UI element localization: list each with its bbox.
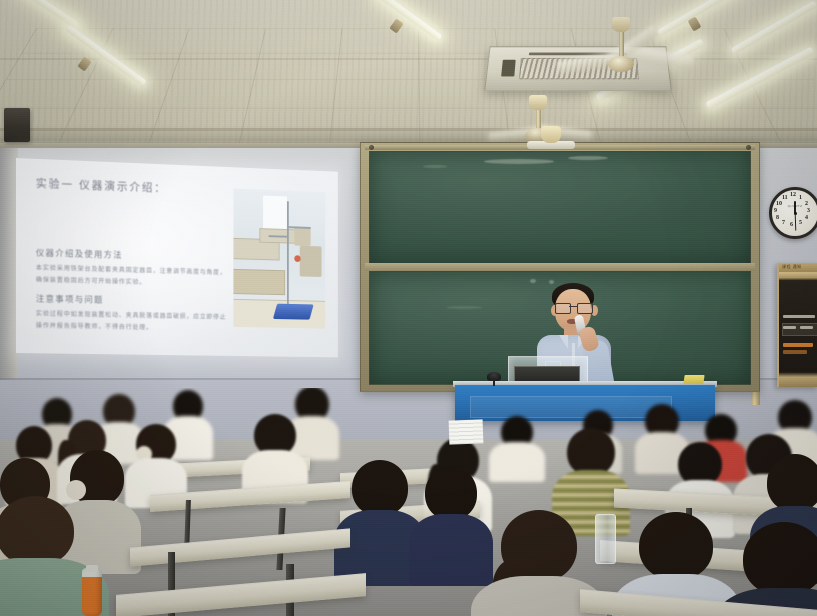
student-head <box>743 522 817 596</box>
ring-stand-rod <box>287 202 289 309</box>
student-head <box>425 466 477 520</box>
clock-numeral-9: 9 <box>774 208 777 214</box>
ring-stand-base <box>273 304 314 320</box>
papers-on-desk <box>449 419 484 444</box>
eyeglass-lens <box>555 303 571 314</box>
student <box>495 416 539 472</box>
eyeglass-bridge <box>569 306 577 307</box>
chalk-smudge <box>423 165 447 168</box>
fan-canopy <box>529 95 547 110</box>
ceiling <box>0 0 817 152</box>
fan-motor <box>608 56 634 72</box>
student <box>418 466 484 578</box>
student-head <box>0 496 74 566</box>
student-head <box>567 428 615 476</box>
clock-numeral-3: 3 <box>807 208 810 214</box>
wall-clock: QUARTZ 12 1 2 3 4 5 6 7 8 9 10 11 <box>769 187 817 239</box>
notice-board-header-text: 课程 通知 <box>782 264 802 270</box>
chalk-smudge <box>446 306 482 309</box>
clock-numeral-2: 2 <box>805 201 808 207</box>
chalkboard-screw <box>369 145 374 150</box>
lab-window <box>263 195 287 232</box>
bottle-cap <box>86 565 98 572</box>
clock-numeral-4: 4 <box>805 215 808 221</box>
clock-numeral-11: 11 <box>782 195 788 201</box>
slide-title: 实验一 仪器演示介绍： <box>36 175 167 196</box>
clock-numeral-12: 12 <box>790 192 796 198</box>
clock-numeral-10: 10 <box>776 201 782 207</box>
board-lamp <box>541 126 561 143</box>
clock-numeral-5: 5 <box>799 220 802 226</box>
student <box>344 460 416 578</box>
clock-minute-hand <box>794 214 796 231</box>
clock-numeral-1: 1 <box>799 195 802 201</box>
eyeglass-lens <box>577 303 593 314</box>
wall-speaker-box <box>4 108 30 142</box>
slide-heading-2: 注意事项与问题 <box>36 292 104 305</box>
microphone-rod <box>493 378 495 386</box>
fan-canopy <box>612 17 630 32</box>
chalkboard-divider-rail <box>365 263 755 271</box>
yellow-chalk-box <box>683 375 704 384</box>
eyeglasses-icon <box>555 303 591 312</box>
ceiling-fan <box>609 20 633 66</box>
student-head <box>352 460 408 516</box>
student-body <box>489 442 545 482</box>
clock-numeral-7: 7 <box>782 220 785 226</box>
projected-slide: 实验一 仪器演示介绍： 仪器介绍及使用方法 本实验采用铁架台及配套夹具固定器皿，… <box>16 158 338 357</box>
slide-heading-1: 仪器介绍及使用方法 <box>36 247 123 261</box>
chalkboard-screw <box>746 145 751 150</box>
clock-numeral-8: 8 <box>776 215 779 221</box>
lab-bench <box>233 269 285 296</box>
student <box>0 496 90 616</box>
ceiling-beam <box>0 58 817 60</box>
slide-body-1: 本实验采用铁架台及配套夹具固定器皿，注意调节高度与角度，确保装置稳固后方可开始操… <box>36 263 228 291</box>
notice-line <box>783 315 815 318</box>
orange-drink-bottle <box>82 568 102 616</box>
classroom-photo: 实验一 仪器演示介绍： 仪器介绍及使用方法 本实验采用铁架台及配套夹具固定器皿，… <box>0 0 817 616</box>
slide-photo <box>233 189 325 329</box>
chalk-smudge <box>484 159 554 164</box>
clock-numeral-6: 6 <box>790 222 793 228</box>
clear-water-bottle <box>595 514 616 564</box>
lab-chair <box>300 246 322 277</box>
notice-accent <box>783 350 807 354</box>
student <box>486 510 592 616</box>
student-head <box>767 454 817 512</box>
student-body <box>409 514 493 586</box>
audience-area <box>0 388 817 616</box>
slide-body-2: 实验过程中如发现装置松动、夹具脱落或器皿破损，应立即停止操作并报告指导教师，不得… <box>36 308 228 335</box>
lab-chair <box>294 227 310 247</box>
notice-line <box>783 326 796 329</box>
chalkboard-panel-upper <box>369 151 751 265</box>
student-head <box>639 512 713 580</box>
notice-line <box>800 326 813 329</box>
notice-accent <box>783 343 813 347</box>
student <box>728 522 817 616</box>
notice-row <box>782 323 817 336</box>
clock-center-pin <box>794 212 797 215</box>
chalk-smudge <box>568 156 608 160</box>
student <box>130 424 182 502</box>
shirt-collar <box>559 335 568 349</box>
wall-notice-board: 课程 通知 <box>777 263 817 387</box>
ac-vent <box>502 60 516 77</box>
